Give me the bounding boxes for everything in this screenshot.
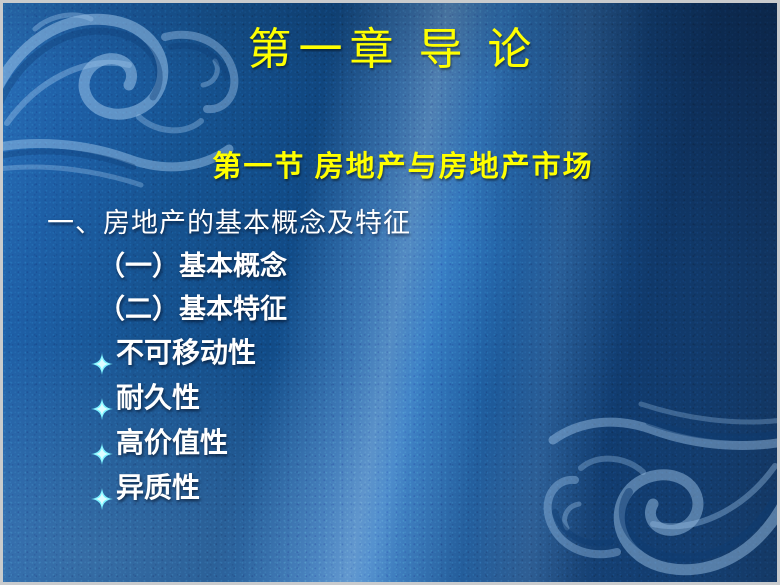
slide-body-outline: 一、房地产的基本概念及特征 （一）基本概念 （二）基本特征 不可移动性 耐久性 — [3, 201, 780, 511]
outline-item-level1: 一、房地产的基本概念及特征 — [3, 201, 780, 245]
outline-item-label: 高价值性 — [116, 421, 228, 466]
slide-subtitle: 第一节 房地产与房地产市场 — [3, 143, 780, 185]
outline-item-bulleted: 高价值性 — [3, 421, 780, 466]
sparkle-star-icon — [91, 479, 113, 501]
outline-item-label: 不可移动性 — [116, 331, 256, 376]
outline-item-level2: （二）基本特征 — [3, 288, 780, 331]
outline-item-bulleted: 不可移动性 — [3, 331, 780, 376]
outline-item-label: 异质性 — [116, 466, 200, 511]
slide-title: 第一章 导 论 — [3, 27, 780, 73]
sparkle-star-icon — [91, 389, 113, 411]
outline-item-bulleted: 耐久性 — [3, 376, 780, 421]
outline-item-bulleted: 异质性 — [3, 466, 780, 511]
outline-item-label: 耐久性 — [116, 376, 200, 421]
outline-item-level2: （一）基本概念 — [3, 245, 780, 288]
sparkle-star-icon — [91, 344, 113, 366]
presentation-slide: 第一章 导 论 第一节 房地产与房地产市场 一、房地产的基本概念及特征 （一）基… — [0, 0, 780, 585]
sparkle-star-icon — [91, 434, 113, 456]
